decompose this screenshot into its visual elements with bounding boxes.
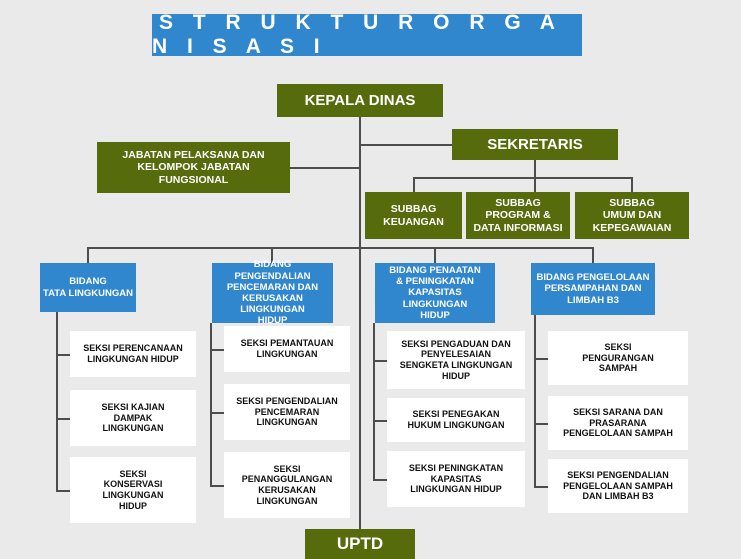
node-kepala-dinas-label: KEPALA DINAS bbox=[277, 92, 443, 110]
node-bidang-pengendalian[interactable]: BIDANG PENGENDALIAN PENCEMARAN DAN KERUS… bbox=[212, 263, 333, 323]
node-seksi-4-2-label: SEKSI SARANA DAN PRASARANA PENGELOLAAN S… bbox=[548, 407, 688, 439]
connector-trunk-main bbox=[359, 117, 361, 529]
connector-column-1-stub-1 bbox=[56, 354, 70, 356]
connector-bidang-drop-4 bbox=[592, 247, 594, 263]
node-seksi-2-3[interactable]: SEKSI PENANGGULANGAN KERUSAKAN LINGKUNGA… bbox=[224, 452, 350, 518]
node-subbag-keuangan[interactable]: SUBBAG KEUANGAN bbox=[365, 192, 462, 239]
node-bidang-pengelolaan-label: BIDANG PENGELOLAAN PERSAMPAHAN DAN LIMBA… bbox=[531, 272, 655, 306]
node-jabatan-fungsional-label: JABATAN PELAKSANA DAN KELOMPOK JABATAN F… bbox=[97, 149, 290, 186]
node-bidang-penaatan[interactable]: BIDANG PENAATAN & PENINGKATAN KAPASITAS … bbox=[375, 263, 495, 323]
node-subbag-umum[interactable]: SUBBAG UMUM DAN KEPEGAWAIAN bbox=[575, 192, 689, 239]
node-bidang-tata-lingkungan-label: BIDANG TATA LINGKUNGAN bbox=[40, 276, 136, 298]
connector-column-3-spine bbox=[373, 323, 375, 479]
node-seksi-1-1-label: SEKSI PERENCANAAN LINGKUNGAN HIDUP bbox=[70, 343, 196, 364]
page-title: S T R U K T U R O R G A N I S A S I bbox=[152, 14, 582, 56]
node-seksi-3-1-label: SEKSI PENGADUAN DAN PENYELESAIAN SENGKET… bbox=[387, 339, 525, 381]
connector-kepala-to-jabatan bbox=[290, 167, 360, 169]
connector-subbag-drop-1 bbox=[413, 177, 415, 192]
node-seksi-1-3[interactable]: SEKSI KONSERVASI LINGKUNGAN HIDUP bbox=[70, 457, 196, 523]
node-seksi-2-2[interactable]: SEKSI PENGENDALIAN PENCEMARAN LINGKUNGAN bbox=[224, 384, 350, 440]
node-bidang-penaatan-label: BIDANG PENAATAN & PENINGKATAN KAPASITAS … bbox=[375, 265, 495, 321]
node-seksi-2-3-label: SEKSI PENANGGULANGAN KERUSAKAN LINGKUNGA… bbox=[224, 464, 350, 506]
node-seksi-4-1[interactable]: SEKSI PENGURANGAN SAMPAH bbox=[548, 331, 688, 385]
connector-bidang-drop-1 bbox=[87, 247, 89, 263]
node-seksi-3-2-label: SEKSI PENEGAKAN HUKUM LINGKUNGAN bbox=[387, 409, 525, 430]
connector-column-1-stub-2 bbox=[56, 418, 70, 420]
connector-column-4-stub-1 bbox=[534, 358, 548, 360]
node-seksi-4-1-label: SEKSI PENGURANGAN SAMPAH bbox=[548, 342, 688, 374]
connector-subbag-drop-3 bbox=[631, 177, 633, 192]
connector-column-4-spine bbox=[534, 315, 536, 486]
node-kepala-dinas[interactable]: KEPALA DINAS bbox=[277, 84, 443, 117]
node-jabatan-fungsional[interactable]: JABATAN PELAKSANA DAN KELOMPOK JABATAN F… bbox=[97, 142, 290, 193]
node-uptd[interactable]: UPTD bbox=[305, 529, 415, 559]
node-seksi-1-1[interactable]: SEKSI PERENCANAAN LINGKUNGAN HIDUP bbox=[70, 331, 196, 377]
connector-column-2-stub-1 bbox=[210, 349, 224, 351]
connector-bidang-drop-3 bbox=[434, 247, 436, 263]
connector-column-4-stub-3 bbox=[534, 486, 548, 488]
node-seksi-4-2[interactable]: SEKSI SARANA DAN PRASARANA PENGELOLAAN S… bbox=[548, 396, 688, 450]
node-seksi-4-3-label: SEKSI PENGENDALIAN PENGELOLAAN SAMPAH DA… bbox=[548, 470, 688, 502]
connector-sekretaris-drop bbox=[534, 160, 536, 192]
node-seksi-1-2[interactable]: SEKSI KAJIAN DAMPAK LINGKUNGAN bbox=[70, 390, 196, 446]
node-seksi-3-2[interactable]: SEKSI PENEGAKAN HUKUM LINGKUNGAN bbox=[387, 398, 525, 442]
node-subbag-program-label: SUBBAG PROGRAM & DATA INFORMASI bbox=[466, 197, 570, 234]
node-bidang-tata-lingkungan[interactable]: BIDANG TATA LINGKUNGAN bbox=[40, 263, 136, 312]
node-seksi-2-2-label: SEKSI PENGENDALIAN PENCEMARAN LINGKUNGAN bbox=[224, 396, 350, 428]
node-subbag-program[interactable]: SUBBAG PROGRAM & DATA INFORMASI bbox=[466, 192, 570, 239]
node-subbag-umum-label: SUBBAG UMUM DAN KEPEGAWAIAN bbox=[575, 197, 689, 234]
node-bidang-pengelolaan[interactable]: BIDANG PENGELOLAAN PERSAMPAHAN DAN LIMBA… bbox=[531, 263, 655, 315]
node-subbag-keuangan-label: SUBBAG KEUANGAN bbox=[365, 203, 462, 228]
node-seksi-3-3-label: SEKSI PENINGKATAN KAPASITAS LINGKUNGAN H… bbox=[387, 463, 525, 495]
connector-column-1-stub-3 bbox=[56, 490, 70, 492]
node-bidang-pengendalian-label: BIDANG PENGENDALIAN PENCEMARAN DAN KERUS… bbox=[212, 259, 333, 326]
connector-bidang-bus bbox=[87, 247, 594, 249]
node-seksi-1-2-label: SEKSI KAJIAN DAMPAK LINGKUNGAN bbox=[70, 402, 196, 434]
org-chart-canvas: S T R U K T U R O R G A N I S A S I KEPA… bbox=[0, 0, 741, 559]
node-seksi-2-1[interactable]: SEKSI PEMANTAUAN LINGKUNGAN bbox=[224, 326, 350, 372]
connector-column-3-stub-1 bbox=[373, 360, 387, 362]
node-seksi-2-1-label: SEKSI PEMANTAUAN LINGKUNGAN bbox=[224, 338, 350, 359]
node-seksi-4-3[interactable]: SEKSI PENGENDALIAN PENGELOLAAN SAMPAH DA… bbox=[548, 459, 688, 513]
connector-column-2-stub-3 bbox=[210, 485, 224, 487]
connector-column-4-stub-2 bbox=[534, 423, 548, 425]
connector-column-3-stub-3 bbox=[373, 479, 387, 481]
connector-column-2-spine bbox=[210, 323, 212, 485]
connector-column-3-stub-2 bbox=[373, 420, 387, 422]
connector-kepala-to-sekretaris bbox=[359, 144, 453, 146]
node-seksi-1-3-label: SEKSI KONSERVASI LINGKUNGAN HIDUP bbox=[70, 469, 196, 511]
connector-subbag-bus bbox=[413, 177, 632, 179]
node-uptd-label: UPTD bbox=[305, 534, 415, 554]
connector-column-1-spine bbox=[56, 312, 58, 490]
node-seksi-3-3[interactable]: SEKSI PENINGKATAN KAPASITAS LINGKUNGAN H… bbox=[387, 451, 525, 507]
connector-column-2-stub-2 bbox=[210, 412, 224, 414]
node-sekretaris-label: SEKRETARIS bbox=[452, 136, 618, 154]
node-seksi-3-1[interactable]: SEKSI PENGADUAN DAN PENYELESAIAN SENGKET… bbox=[387, 331, 525, 389]
node-sekretaris[interactable]: SEKRETARIS bbox=[452, 129, 618, 160]
